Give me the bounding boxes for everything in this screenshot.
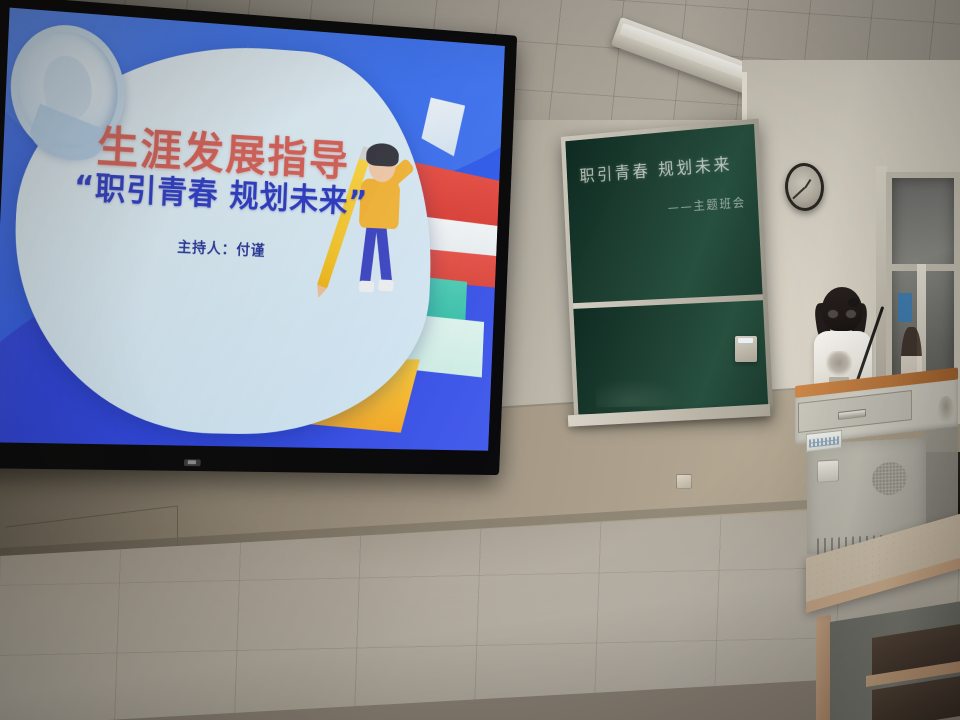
blackboard-chalk-heading: 职引青春 规划未来: [579, 149, 746, 187]
slide-text-block: 生涯发展指导 “职引青春 规划未来” 主持人：付谨: [36, 123, 402, 266]
character-shoe-right: [378, 280, 393, 292]
character-shoe-left: [359, 281, 374, 293]
blackboard: 职引青春 规划未来 ——主题班会: [561, 118, 774, 419]
presentation-slide: 生涯发展指导 “职引青春 规划未来” 主持人：付谨: [0, 8, 505, 451]
chalk-holder-box: [735, 336, 757, 362]
clock-minute-hand: [793, 187, 806, 199]
glasses-icon: [827, 309, 857, 319]
clock-hour-hand: [804, 179, 811, 189]
lectern-control-panel[interactable]: [817, 459, 839, 482]
classroom-photo-scene: 职引青春 规划未来 ——主题班会: [0, 0, 960, 720]
chalk-smudge: [595, 378, 682, 408]
blackboard-chalk-subheading: ——主题班会: [667, 194, 746, 216]
power-outlet-secondary-icon: [676, 474, 692, 489]
display-power-indicator[interactable]: [184, 459, 201, 466]
classroom-desk: [806, 530, 960, 720]
wall-crest-decal: [938, 396, 954, 422]
window-blue-object: [898, 293, 912, 322]
blackboard-panel-upper: 职引青春 规划未来 ——主题班会: [565, 124, 762, 305]
tshirt-graphic-print: [826, 351, 852, 377]
desk-leg: [816, 615, 831, 720]
display-screen[interactable]: 生涯发展指导 “职引青春 规划未来” 主持人：付谨: [0, 8, 505, 451]
microphone-head-icon: [848, 298, 859, 307]
interactive-flat-panel-display[interactable]: 生涯发展指导 “职引青春 规划未来” 主持人：付谨: [0, 0, 517, 475]
